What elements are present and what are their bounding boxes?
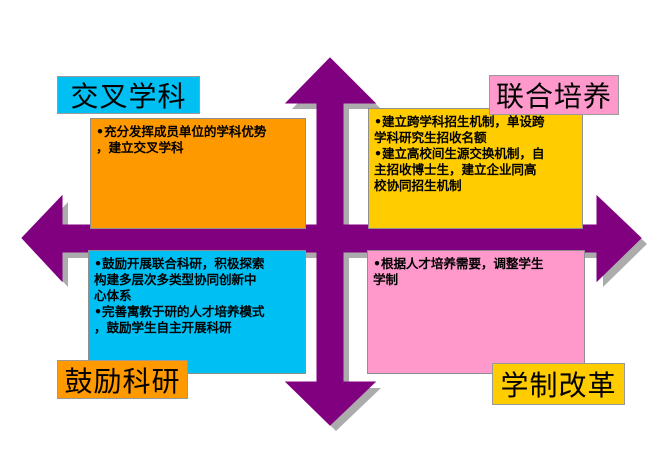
bullet-list-interdisciplinary: •充分发挥成员单位的学科优势 ，建立交叉学科 [96,124,301,156]
quadrant-box-encourage-research: •鼓励开展联合科研，积极探索 构建多层次多类型协同创新中 心体系 •完善寓教于研… [88,250,306,374]
quadrant-title-text: 鼓励科研 [64,360,180,400]
bullet-list-encourage-research: •鼓励开展联合科研，积极探索 构建多层次多类型协同创新中 心体系 •完善寓教于研… [94,256,301,337]
bullet-line: •鼓励开展联合科研，积极探索 [94,256,301,272]
list-item: •鼓励开展联合科研，积极探索 构建多层次多类型协同创新中 心体系 [94,256,301,304]
bullet-line: 学制 [373,272,580,288]
quadrant-title-text: 交叉学科 [70,75,186,115]
quadrant-title-system-reform: 学制改革 [492,363,625,405]
bullet-line: ，鼓励学生自主开展科研 [94,320,301,336]
bullet-list-joint-training: •建立跨学科招生机制，单设跨 学科研究生招收名额 •建立高校间生源交换机制，自 … [374,114,578,195]
quadrant-box-system-reform: •根据人才培养需要，调整学生 学制 [367,250,585,374]
quadrant-title-interdisciplinary: 交叉学科 [57,76,200,114]
bullet-list-system-reform: •根据人才培养需要，调整学生 学制 [373,256,580,288]
bullet-line: 构建多层次多类型协同创新中 [94,272,301,288]
bullet-line: 校协同招生机制 [374,178,578,194]
bullet-line: •建立高校间生源交换机制，自 [374,146,578,162]
quadrant-title-text: 学制改革 [500,364,616,404]
list-item: •完善寓教于研的人才培养模式 ，鼓励学生自主开展科研 [94,304,301,336]
quadrant-title-joint-training: 联合培养 [489,75,619,115]
bullet-line: •充分发挥成员单位的学科优势 [96,124,301,140]
diagram-canvas: •充分发挥成员单位的学科优势 ，建立交叉学科 交叉学科 •建立跨学科招生机制，单… [0,0,660,465]
quadrant-box-interdisciplinary: •充分发挥成员单位的学科优势 ，建立交叉学科 [90,118,306,229]
bullet-line: •建立跨学科招生机制，单设跨 [374,114,578,130]
bullet-line: 心体系 [94,288,301,304]
bullet-line: 学科研究生招收名额 [374,130,578,146]
bullet-line: •根据人才培养需要，调整学生 [373,256,580,272]
quadrant-title-text: 联合培养 [496,75,612,115]
list-item: •充分发挥成员单位的学科优势 ，建立交叉学科 [96,124,301,156]
bullet-line: ，建立交叉学科 [96,140,301,156]
bullet-line: •完善寓教于研的人才培养模式 [94,304,301,320]
quadrant-box-joint-training: •建立跨学科招生机制，单设跨 学科研究生招收名额 •建立高校间生源交换机制，自 … [368,108,583,229]
list-item: •根据人才培养需要，调整学生 学制 [373,256,580,288]
bullet-line: 主招收博士生，建立企业同高 [374,162,578,178]
list-item: •建立高校间生源交换机制，自 主招收博士生，建立企业同高 校协同招生机制 [374,146,578,194]
quadrant-title-encourage-research: 鼓励科研 [57,360,188,399]
list-item: •建立跨学科招生机制，单设跨 学科研究生招收名额 [374,114,578,146]
